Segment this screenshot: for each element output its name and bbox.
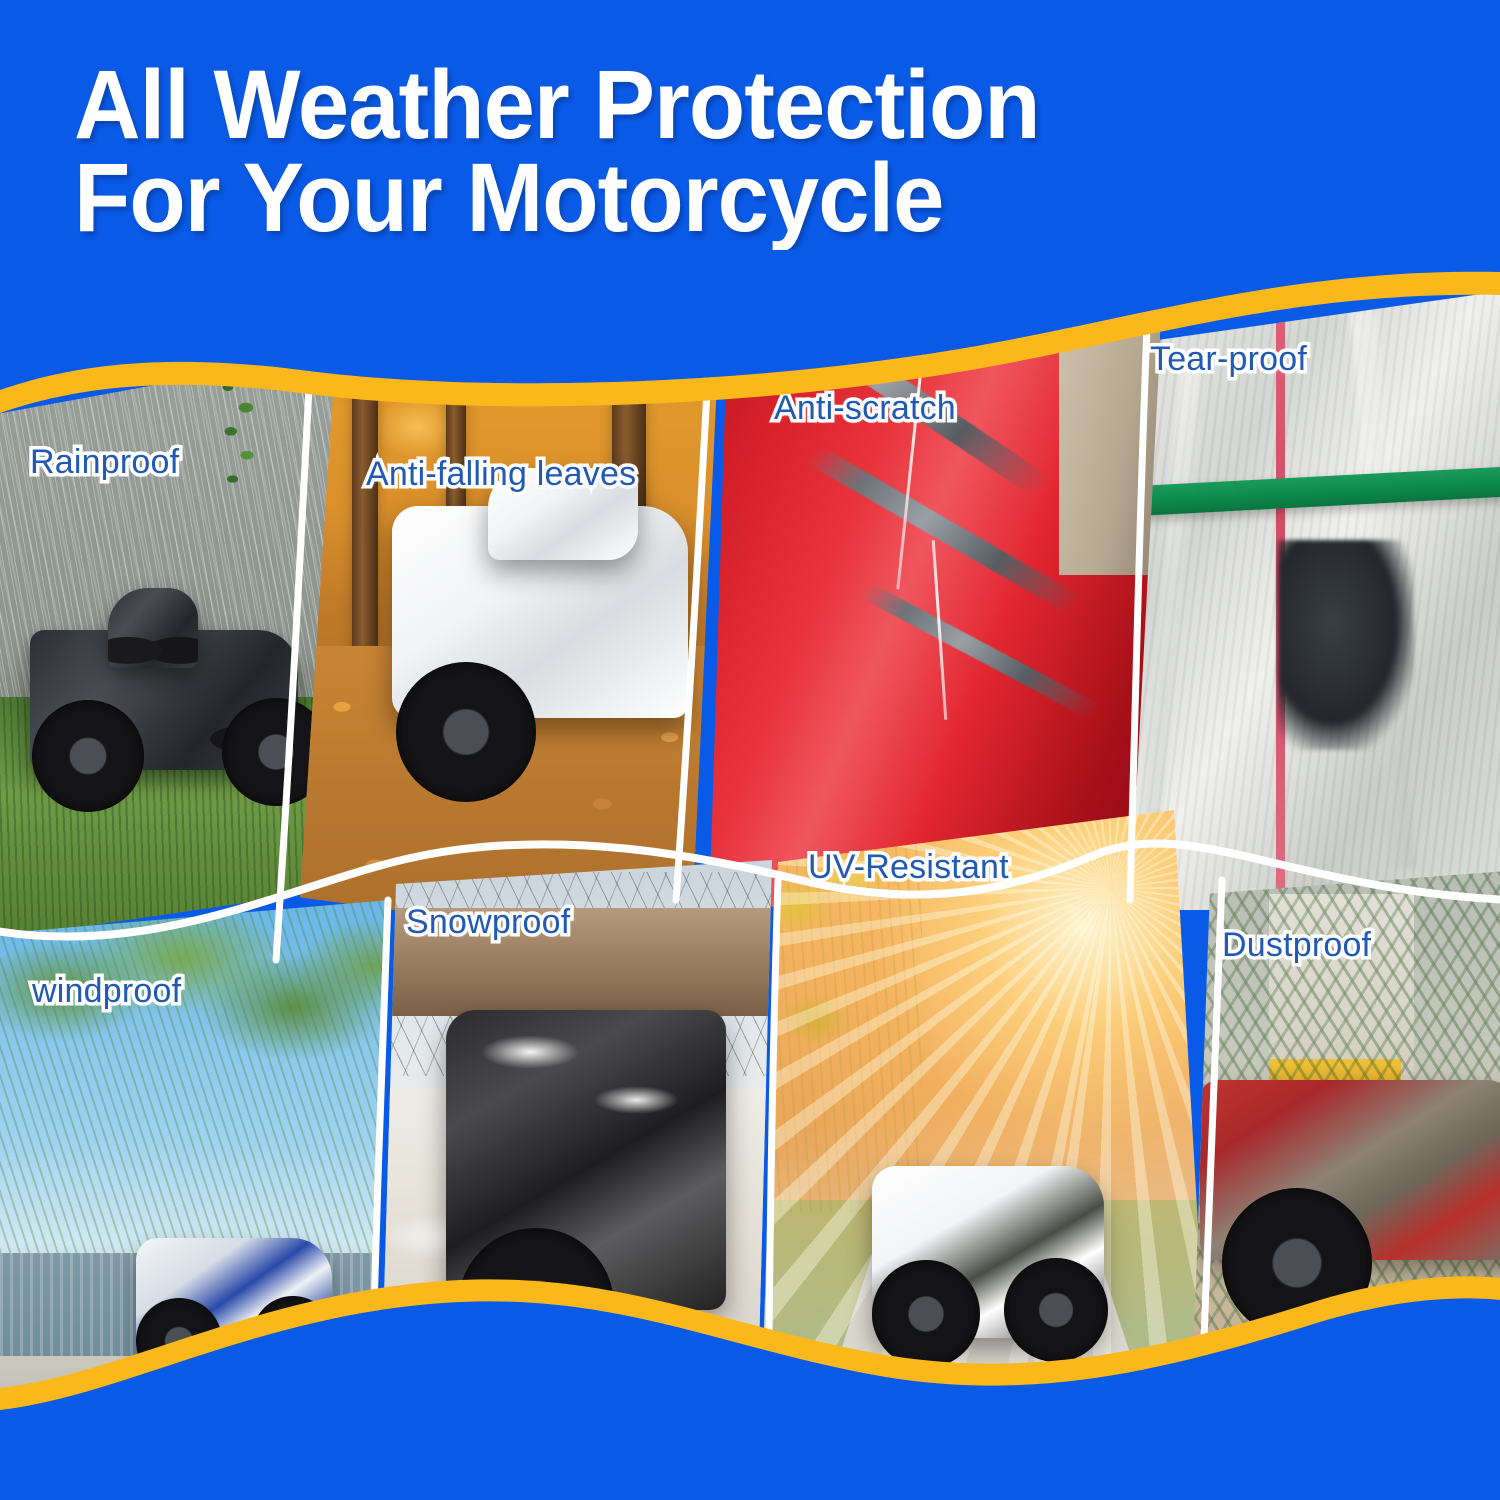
label-snowproof: Snowproof	[406, 903, 570, 942]
wheel-shape	[252, 1296, 334, 1378]
ivy-icon	[211, 326, 271, 496]
rain-photo	[0, 300, 340, 940]
wheel-shape	[1222, 1188, 1372, 1338]
sun-rays	[760, 810, 1210, 1460]
panel-anti-scratch	[700, 290, 1160, 910]
background-wall	[1059, 290, 1160, 575]
panel-uv-resistant	[760, 810, 1210, 1460]
panel-tear-proof	[1130, 290, 1500, 910]
fallen-leaves	[1190, 1330, 1500, 1460]
panel-anti-falling-leaves	[300, 290, 720, 950]
label-uv-resistant: UV-Resistant	[808, 848, 1009, 887]
wheel-shape	[872, 1260, 980, 1368]
rider-shape	[108, 588, 198, 668]
cover-photo	[1130, 290, 1500, 910]
paint-crack	[896, 291, 930, 590]
scratch-photo	[700, 290, 1160, 910]
panel-snowproof	[372, 860, 772, 1460]
label-windproof: windproof	[32, 972, 181, 1011]
uv-photo	[760, 810, 1210, 1460]
label-dustproof: Dustproof	[1222, 926, 1371, 965]
dark-shadow-area	[1278, 540, 1414, 750]
panel-rainproof	[0, 300, 340, 940]
tree-trunk	[352, 290, 378, 699]
snow-photo	[372, 860, 772, 1460]
product-banner: Rainproof Anti-falling leaves	[0, 0, 1500, 1500]
leaves-photo	[300, 290, 720, 950]
wheel-shape	[1004, 1258, 1108, 1362]
wheel-shape	[458, 1228, 614, 1384]
page-title: All Weather Protection For Your Motorcyc…	[74, 58, 1309, 244]
label-rainproof: Rainproof	[30, 443, 179, 482]
wheel-shape	[396, 662, 536, 802]
wheel-shape	[136, 1298, 222, 1384]
wheel-shape	[32, 700, 144, 812]
label-anti-falling-leaves: Anti-falling leaves	[366, 455, 636, 494]
label-anti-scratch: Anti-scratch	[774, 389, 956, 428]
label-tear-proof: Tear-proof	[1150, 340, 1307, 379]
